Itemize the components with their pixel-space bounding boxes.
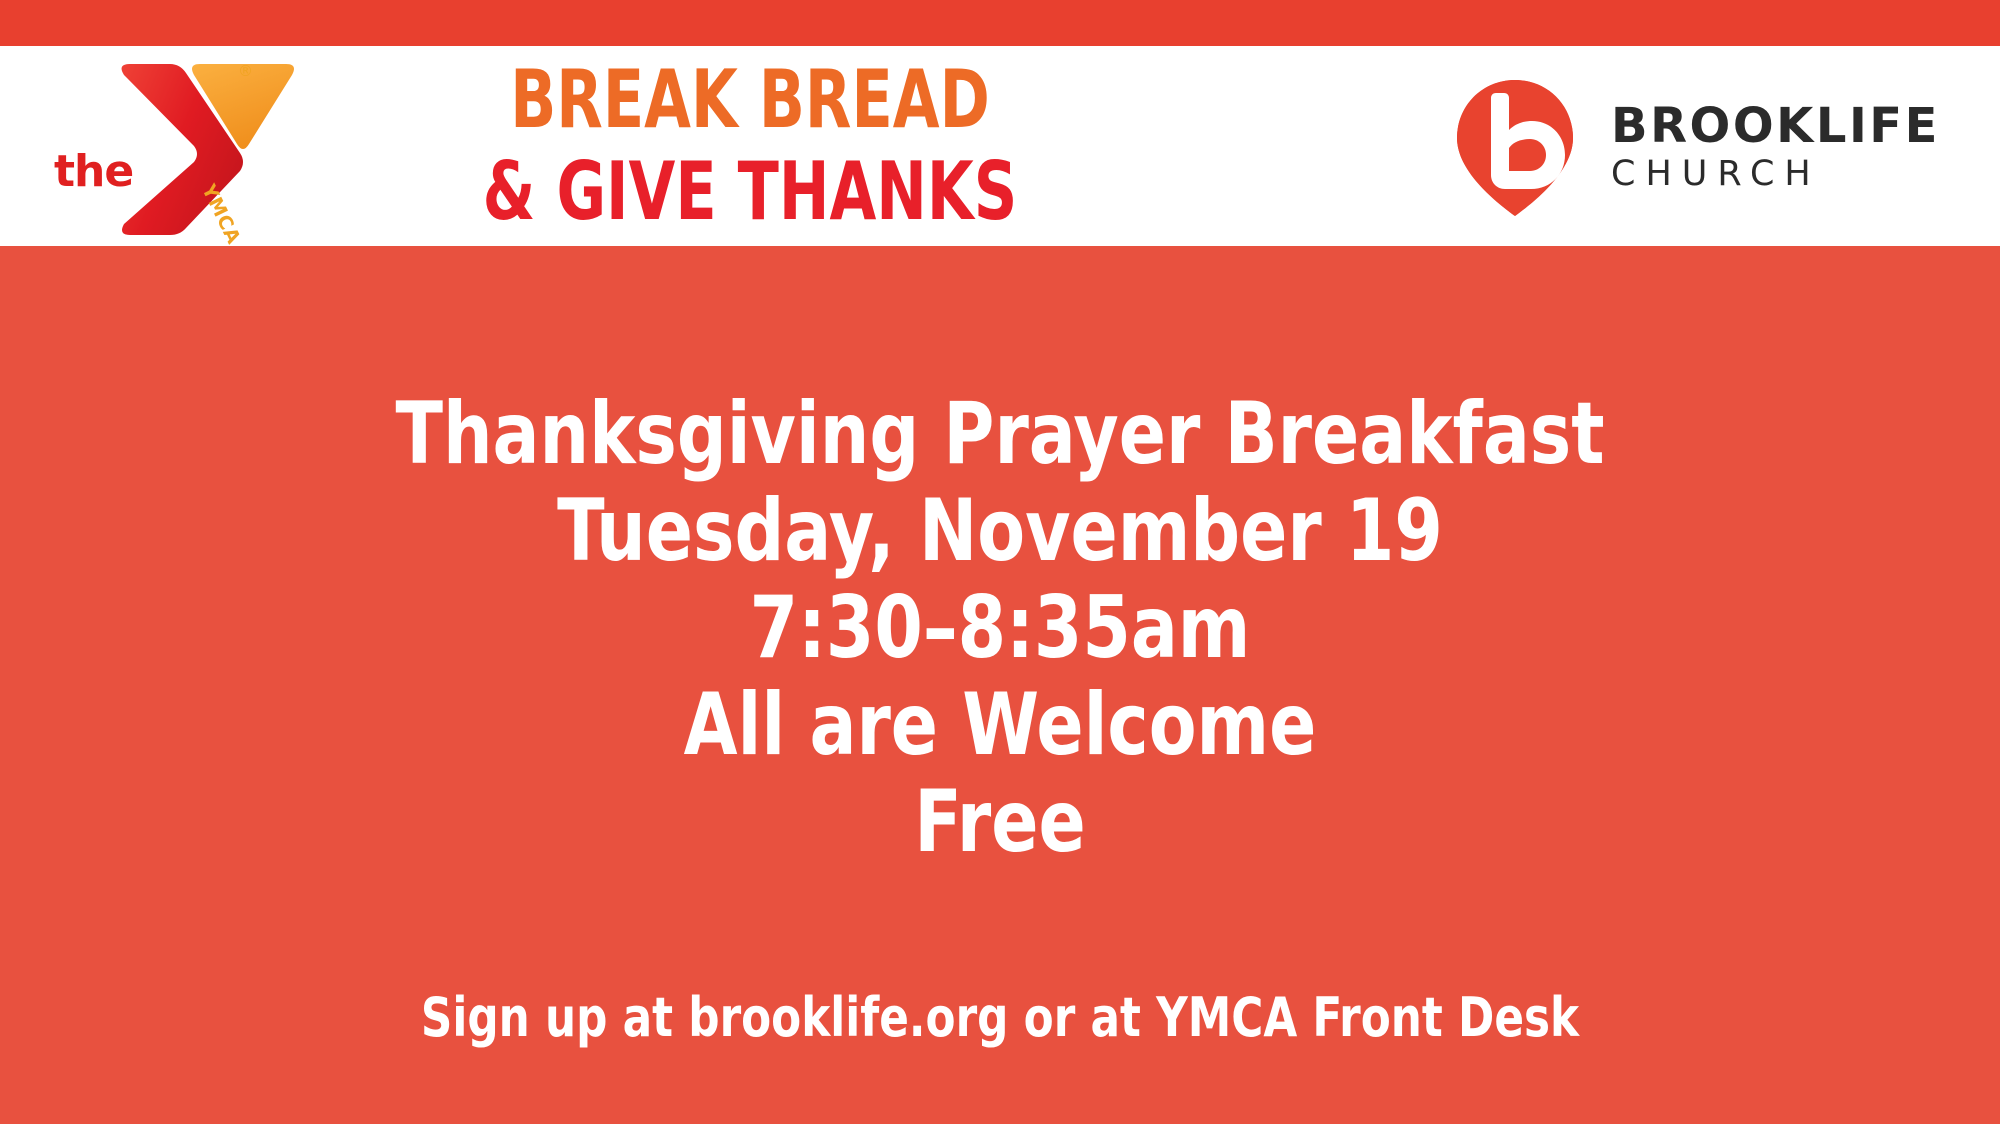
registered-trademark-icon: ® — [238, 62, 253, 80]
brooklife-subtitle: CHURCH — [1611, 152, 1940, 196]
ymca-logo: the ® YMCA — [46, 50, 316, 242]
event-flyer: the ® YMCA — [0, 0, 2000, 1124]
signup-instructions: Sign up at brooklife.org or at YMCA Fron… — [100, 988, 1900, 1048]
ymca-y-mark-icon — [108, 58, 298, 236]
headline-line-1: BREAK BREAD — [414, 54, 1086, 146]
header-banner: the ® YMCA — [0, 46, 2000, 246]
event-cost: Free — [100, 774, 1900, 871]
headline: BREAK BREAD & GIVE THANKS — [350, 54, 1150, 238]
top-accent-bar — [0, 0, 2000, 46]
headline-line-2: & GIVE THANKS — [414, 146, 1086, 238]
brooklife-pin-b-icon — [1455, 78, 1575, 218]
event-time: 7:30–8:35am — [100, 580, 1900, 677]
brooklife-wordmark: BROOKLIFE CHURCH — [1611, 100, 1940, 196]
brooklife-name: BROOKLIFE — [1611, 100, 1940, 152]
event-title: Thanksgiving Prayer Breakfast — [100, 386, 1900, 483]
event-audience: All are Welcome — [100, 677, 1900, 774]
brooklife-logo: BROOKLIFE CHURCH — [1455, 68, 1940, 228]
main-content: Thanksgiving Prayer Breakfast Tuesday, N… — [0, 246, 2000, 1124]
event-date: Tuesday, November 19 — [100, 483, 1900, 580]
event-details: Thanksgiving Prayer Breakfast Tuesday, N… — [0, 386, 2000, 871]
